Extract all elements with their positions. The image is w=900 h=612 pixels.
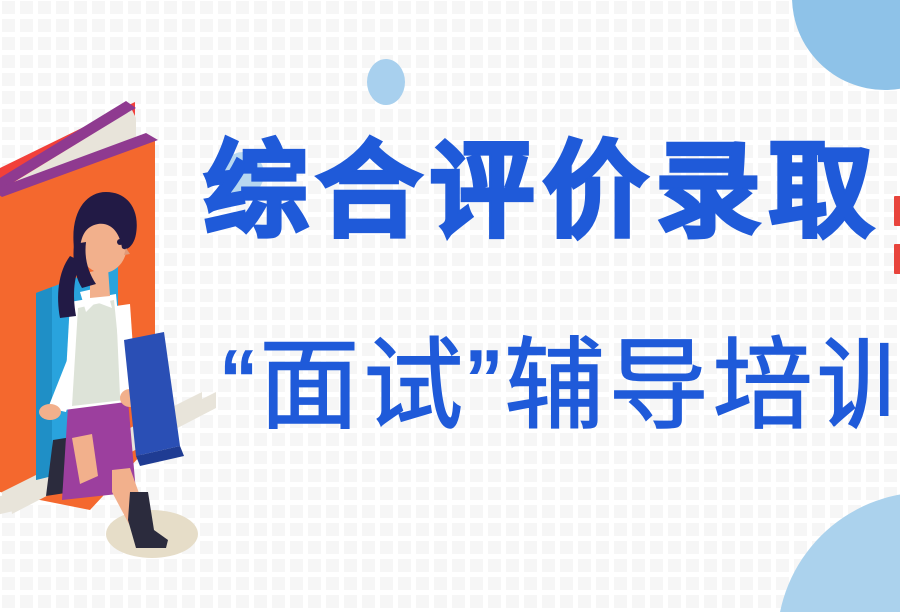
headline-block: 综合评价录取 “面试”辅导培训 — [200, 140, 900, 436]
clipped-mark-stroke-upper — [894, 196, 900, 226]
headline-line-1: 综合评价录取 — [204, 140, 900, 244]
figure-eye — [117, 239, 123, 245]
clipped-red-glyph-fragment — [894, 196, 900, 292]
decorative-circle-top-small — [367, 59, 405, 105]
headline-line-2: “面试”辅导培训 — [222, 336, 900, 436]
clipped-mark-stroke-lower — [894, 244, 900, 274]
book-inner-panel-shadow — [36, 287, 52, 480]
book-illustration — [0, 40, 215, 612]
figure-rear-hand — [39, 404, 61, 420]
promotional-banner: 综合评价录取 “面试”辅导培训 — [0, 0, 900, 612]
